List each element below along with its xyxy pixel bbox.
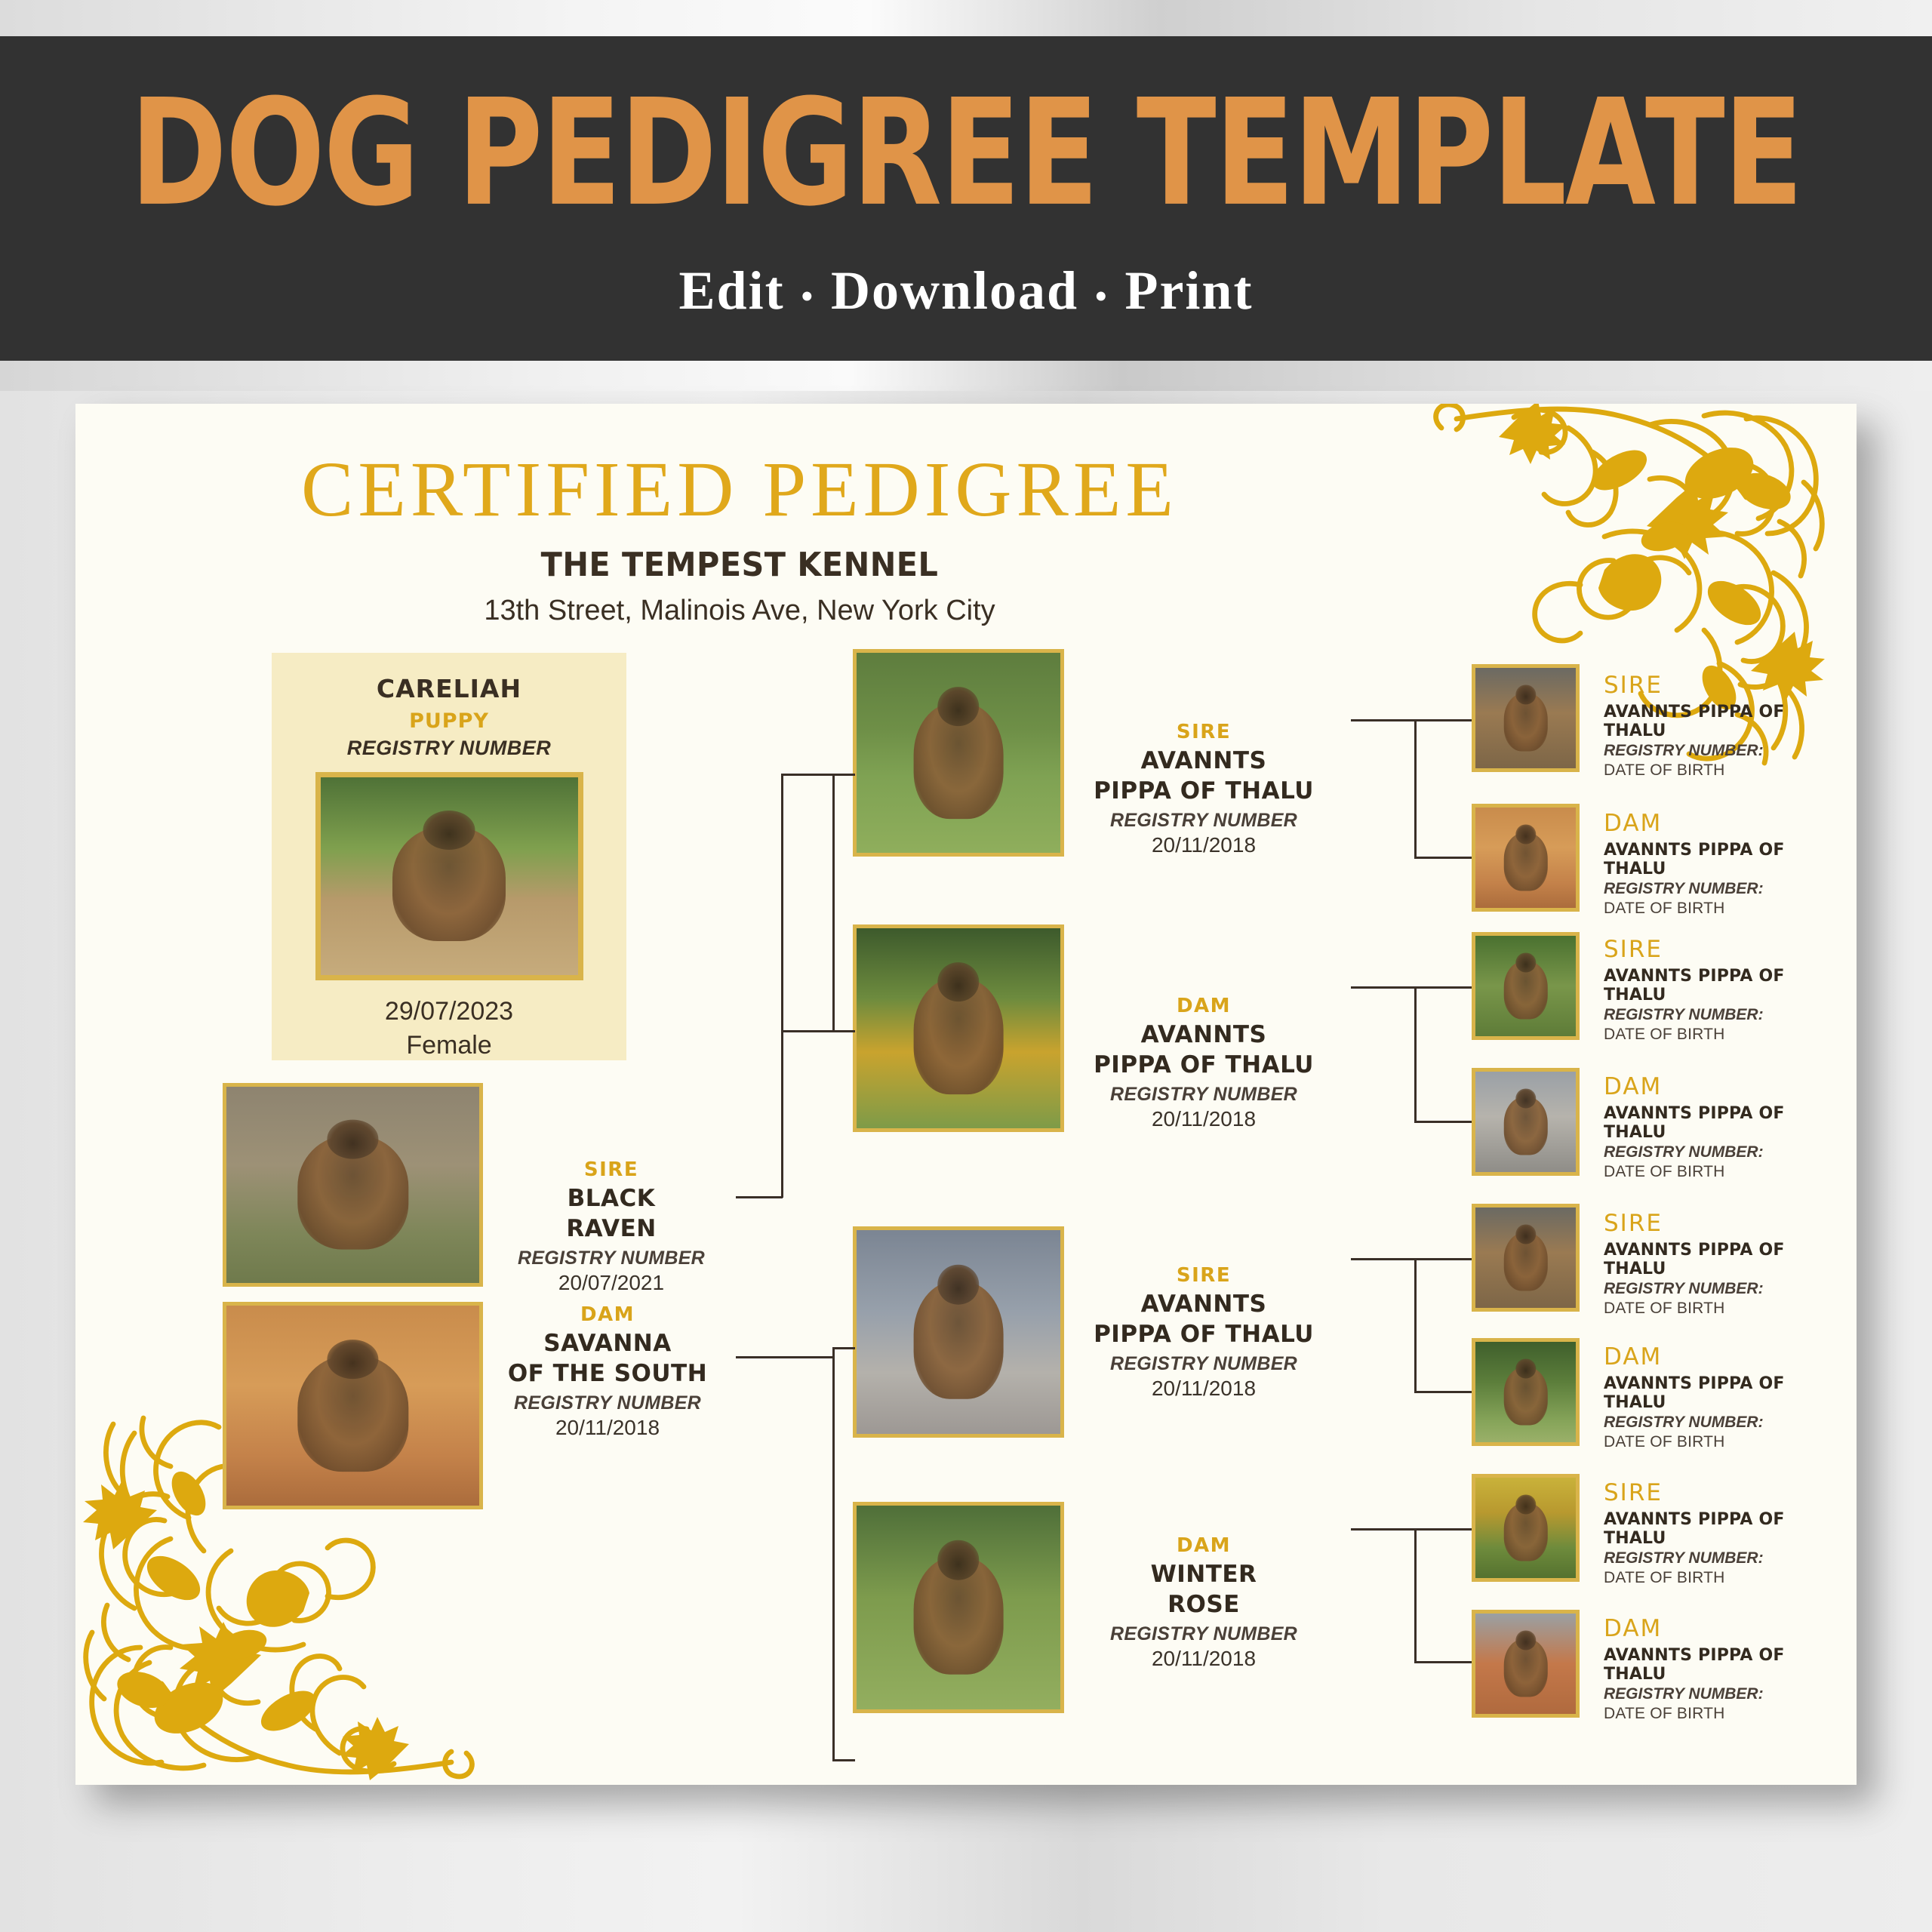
parent-dam-name-line1: SAVANNA — [543, 1330, 671, 1357]
parent-dam-registry: REGISTRY NUMBER — [487, 1392, 728, 1414]
ggp-label-6: DAM AVANNTS PIPPA OF THALU REGISTRY NUMB… — [1604, 1343, 1845, 1451]
subject-dob: 29/07/2023 — [385, 997, 513, 1026]
subject-name: CARELIAH — [377, 674, 521, 703]
ggp7-name: AVANNTS PIPPA OF THALU — [1604, 1510, 1845, 1548]
ggp-label-5: SIRE AVANNTS PIPPA OF THALU REGISTRY NUM… — [1604, 1210, 1845, 1318]
gp3-registry: REGISTRY NUMBER — [1079, 1353, 1328, 1375]
kennel-address: 13th Street, Malinois Ave, New York City — [75, 595, 1404, 627]
connector-gp2-stub — [1351, 986, 1416, 989]
subject-sex: Female — [406, 1031, 491, 1060]
gp3-name-line1: AVANNTS — [1141, 1291, 1267, 1318]
connector-sire-trunk — [781, 774, 783, 1198]
gp4-dob: 20/11/2018 — [1079, 1647, 1328, 1671]
ggp-photo-8[interactable] — [1472, 1610, 1580, 1718]
subject-card[interactable]: CARELIAH PUPPY REGISTRY NUMBER 29/07/202… — [272, 653, 626, 1060]
connector-subject-dam — [736, 1356, 783, 1358]
ggp2-name: AVANNTS PIPPA OF THALU — [1604, 841, 1845, 878]
connector-sire-up — [781, 774, 855, 776]
gp2-name-line2: PIPPA OF THALU — [1094, 1051, 1314, 1078]
gp4-role: DAM — [1079, 1534, 1328, 1557]
gp2-name: AVANNTS PIPPA OF THALU — [1079, 1020, 1328, 1080]
gp2-dob: 20/11/2018 — [1079, 1107, 1328, 1131]
parent-dam-name-line2: OF THE SOUTH — [508, 1360, 707, 1387]
ggp5-name: AVANNTS PIPPA OF THALU — [1604, 1241, 1845, 1278]
parent-dam-role: DAM — [487, 1303, 728, 1326]
ggp2-registry: REGISTRY NUMBER: — [1604, 880, 1845, 898]
ggp-label-1: SIRE AVANNTS PIPPA OF THALU REGISTRY NUM… — [1604, 672, 1845, 780]
connector-dam-join — [781, 1356, 834, 1358]
ggp6-name: AVANNTS PIPPA OF THALU — [1604, 1374, 1845, 1412]
ggp3-dob: DATE OF BIRTH — [1604, 1026, 1845, 1044]
connector-gp3-trunk — [1414, 1258, 1417, 1392]
parent-sire-registry: REGISTRY NUMBER — [498, 1247, 724, 1269]
ggp6-dob: DATE OF BIRTH — [1604, 1433, 1845, 1451]
parent-photo-dam[interactable] — [223, 1302, 483, 1509]
gp2-role: DAM — [1079, 995, 1328, 1017]
connector-dam-up — [832, 1347, 855, 1349]
subject-role: PUPPY — [409, 709, 489, 733]
parent-sire-name-line1: BLACK — [568, 1185, 656, 1212]
promo-separator-2: • — [1078, 278, 1124, 315]
promo-separator-1: • — [785, 278, 831, 315]
connector-gp4-to-ggp8 — [1414, 1661, 1472, 1663]
grandparent-label-1: SIRE AVANNTS PIPPA OF THALU REGISTRY NUM… — [1079, 721, 1328, 857]
parent-label-dam: DAM SAVANNA OF THE SOUTH REGISTRY NUMBER… — [487, 1303, 728, 1440]
gp4-name-line2: ROSE — [1168, 1591, 1240, 1618]
ggp-photo-1[interactable] — [1472, 664, 1580, 772]
gp3-role: SIRE — [1079, 1264, 1328, 1287]
ggp6-role: DAM — [1604, 1343, 1845, 1371]
grandparent-label-3: SIRE AVANNTS PIPPA OF THALU REGISTRY NUM… — [1079, 1264, 1328, 1401]
ggp5-role: SIRE — [1604, 1210, 1845, 1237]
ggp-photo-3[interactable] — [1472, 932, 1580, 1040]
connector-sire-inner — [832, 774, 835, 1032]
gp1-registry: REGISTRY NUMBER — [1079, 810, 1328, 832]
connector-gp1-stub — [1351, 719, 1416, 721]
grandparent-photo-2[interactable] — [853, 924, 1064, 1132]
gp3-dob: 20/11/2018 — [1079, 1377, 1328, 1401]
ggp8-registry: REGISTRY NUMBER: — [1604, 1685, 1845, 1703]
connector-dam-inner — [832, 1347, 835, 1761]
ggp3-name: AVANNTS PIPPA OF THALU — [1604, 967, 1845, 1004]
parent-sire-role: SIRE — [498, 1158, 724, 1181]
connector-gp3-to-ggp5 — [1414, 1258, 1472, 1260]
subject-photo[interactable] — [315, 772, 583, 980]
grandparent-photo-4[interactable] — [853, 1502, 1064, 1713]
promo-banner: DOG PEDIGREE TEMPLATE Edit•Download•Prin… — [0, 36, 1932, 361]
ggp5-registry: REGISTRY NUMBER: — [1604, 1280, 1845, 1298]
parent-sire-dob: 20/07/2021 — [498, 1271, 724, 1295]
parent-dam-name: SAVANNA OF THE SOUTH — [487, 1329, 728, 1389]
ggp1-registry: REGISTRY NUMBER: — [1604, 742, 1845, 760]
gp3-name: AVANNTS PIPPA OF THALU — [1079, 1290, 1328, 1349]
pedigree-certificate: CERTIFIED PEDIGREE THE TEMPEST KENNEL 13… — [75, 404, 1857, 1785]
ggp-label-2: DAM AVANNTS PIPPA OF THALU REGISTRY NUMB… — [1604, 810, 1845, 918]
connector-gp4-stub — [1351, 1528, 1416, 1531]
connector-dam-down — [832, 1759, 855, 1761]
ggp1-name: AVANNTS PIPPA OF THALU — [1604, 703, 1845, 740]
ggp6-registry: REGISTRY NUMBER: — [1604, 1414, 1845, 1432]
gp1-role: SIRE — [1079, 721, 1328, 743]
ggp2-dob: DATE OF BIRTH — [1604, 900, 1845, 918]
ggp4-name: AVANNTS PIPPA OF THALU — [1604, 1104, 1845, 1142]
gp4-name-line1: WINTER — [1151, 1561, 1257, 1588]
ggp-photo-6[interactable] — [1472, 1338, 1580, 1446]
connector-gp1-to-ggp1 — [1414, 719, 1472, 721]
kennel-name: THE TEMPEST KENNEL — [115, 546, 1364, 584]
ggp-label-4: DAM AVANNTS PIPPA OF THALU REGISTRY NUMB… — [1604, 1073, 1845, 1181]
connector-sire-down — [781, 1030, 855, 1032]
ggp-photo-5[interactable] — [1472, 1204, 1580, 1312]
promo-action-edit: Edit — [679, 260, 785, 321]
grandparent-label-2: DAM AVANNTS PIPPA OF THALU REGISTRY NUMB… — [1079, 995, 1328, 1131]
ggp7-dob: DATE OF BIRTH — [1604, 1569, 1845, 1587]
certificate-header: CERTIFIED PEDIGREE THE TEMPEST KENNEL 13… — [75, 451, 1404, 627]
connector-gp1-trunk — [1414, 719, 1417, 858]
parent-sire-name: BLACK RAVEN — [498, 1184, 724, 1244]
ggp1-dob: DATE OF BIRTH — [1604, 761, 1845, 780]
gp1-name: AVANNTS PIPPA OF THALU — [1079, 746, 1328, 806]
gp1-name-line1: AVANNTS — [1141, 747, 1267, 774]
connector-gp2-trunk — [1414, 986, 1417, 1122]
ggp-label-7: SIRE AVANNTS PIPPA OF THALU REGISTRY NUM… — [1604, 1479, 1845, 1587]
grandparent-label-4: DAM WINTER ROSE REGISTRY NUMBER 20/11/20… — [1079, 1534, 1328, 1671]
ggp-label-3: SIRE AVANNTS PIPPA OF THALU REGISTRY NUM… — [1604, 936, 1845, 1044]
ggp8-name: AVANNTS PIPPA OF THALU — [1604, 1646, 1845, 1684]
connector-gp3-stub — [1351, 1258, 1416, 1260]
promo-subtitle: Edit•Download•Print — [679, 260, 1254, 322]
ggp1-role: SIRE — [1604, 672, 1845, 699]
subject-registry: REGISTRY NUMBER — [347, 737, 552, 760]
gp1-dob: 20/11/2018 — [1079, 833, 1328, 857]
ggp-photo-4[interactable] — [1472, 1068, 1580, 1176]
connector-gp3-to-ggp6 — [1414, 1391, 1472, 1393]
parent-label-sire: SIRE BLACK RAVEN REGISTRY NUMBER 20/07/2… — [498, 1158, 724, 1295]
gp1-name-line2: PIPPA OF THALU — [1094, 777, 1314, 804]
ggp-photo-2[interactable] — [1472, 804, 1580, 912]
gp3-name-line2: PIPPA OF THALU — [1094, 1321, 1314, 1348]
ggp5-dob: DATE OF BIRTH — [1604, 1300, 1845, 1318]
ggp3-registry: REGISTRY NUMBER: — [1604, 1006, 1845, 1024]
gp4-registry: REGISTRY NUMBER — [1079, 1623, 1328, 1645]
parent-photo-sire[interactable] — [223, 1083, 483, 1287]
promo-title: DOG PEDIGREE TEMPLATE — [130, 80, 1801, 227]
gloss-strip-bottom — [0, 361, 1932, 391]
parent-dam-dob: 20/11/2018 — [487, 1416, 728, 1440]
gp2-registry: REGISTRY NUMBER — [1079, 1084, 1328, 1106]
gp4-name: WINTER ROSE — [1079, 1560, 1328, 1620]
promo-action-download: Download — [831, 260, 1078, 321]
ggp4-role: DAM — [1604, 1073, 1845, 1100]
ggp4-registry: REGISTRY NUMBER: — [1604, 1143, 1845, 1161]
ggp7-role: SIRE — [1604, 1479, 1845, 1506]
ggp7-registry: REGISTRY NUMBER: — [1604, 1549, 1845, 1567]
connector-gp2-to-ggp4 — [1414, 1121, 1472, 1123]
grandparent-photo-1[interactable] — [853, 649, 1064, 857]
ggp-label-8: DAM AVANNTS PIPPA OF THALU REGISTRY NUMB… — [1604, 1615, 1845, 1723]
connector-gp1-to-ggp2 — [1414, 857, 1472, 859]
ggp4-dob: DATE OF BIRTH — [1604, 1163, 1845, 1181]
connector-gp4-trunk — [1414, 1528, 1417, 1663]
promo-action-print: Print — [1124, 260, 1253, 321]
connector-gp4-to-ggp7 — [1414, 1528, 1472, 1531]
connector-subject-sire — [736, 1196, 783, 1198]
ggp8-dob: DATE OF BIRTH — [1604, 1705, 1845, 1723]
ggp3-role: SIRE — [1604, 936, 1845, 963]
connector-gp2-to-ggp3 — [1414, 986, 1472, 989]
certificate-title: CERTIFIED PEDIGREE — [75, 451, 1404, 529]
grandparent-photo-3[interactable] — [853, 1226, 1064, 1438]
gloss-strip-top — [0, 0, 1932, 36]
parent-sire-name-line2: RAVEN — [566, 1215, 656, 1242]
ggp8-role: DAM — [1604, 1615, 1845, 1642]
ggp2-role: DAM — [1604, 810, 1845, 837]
ggp-photo-7[interactable] — [1472, 1474, 1580, 1582]
gp2-name-line1: AVANNTS — [1141, 1021, 1267, 1048]
